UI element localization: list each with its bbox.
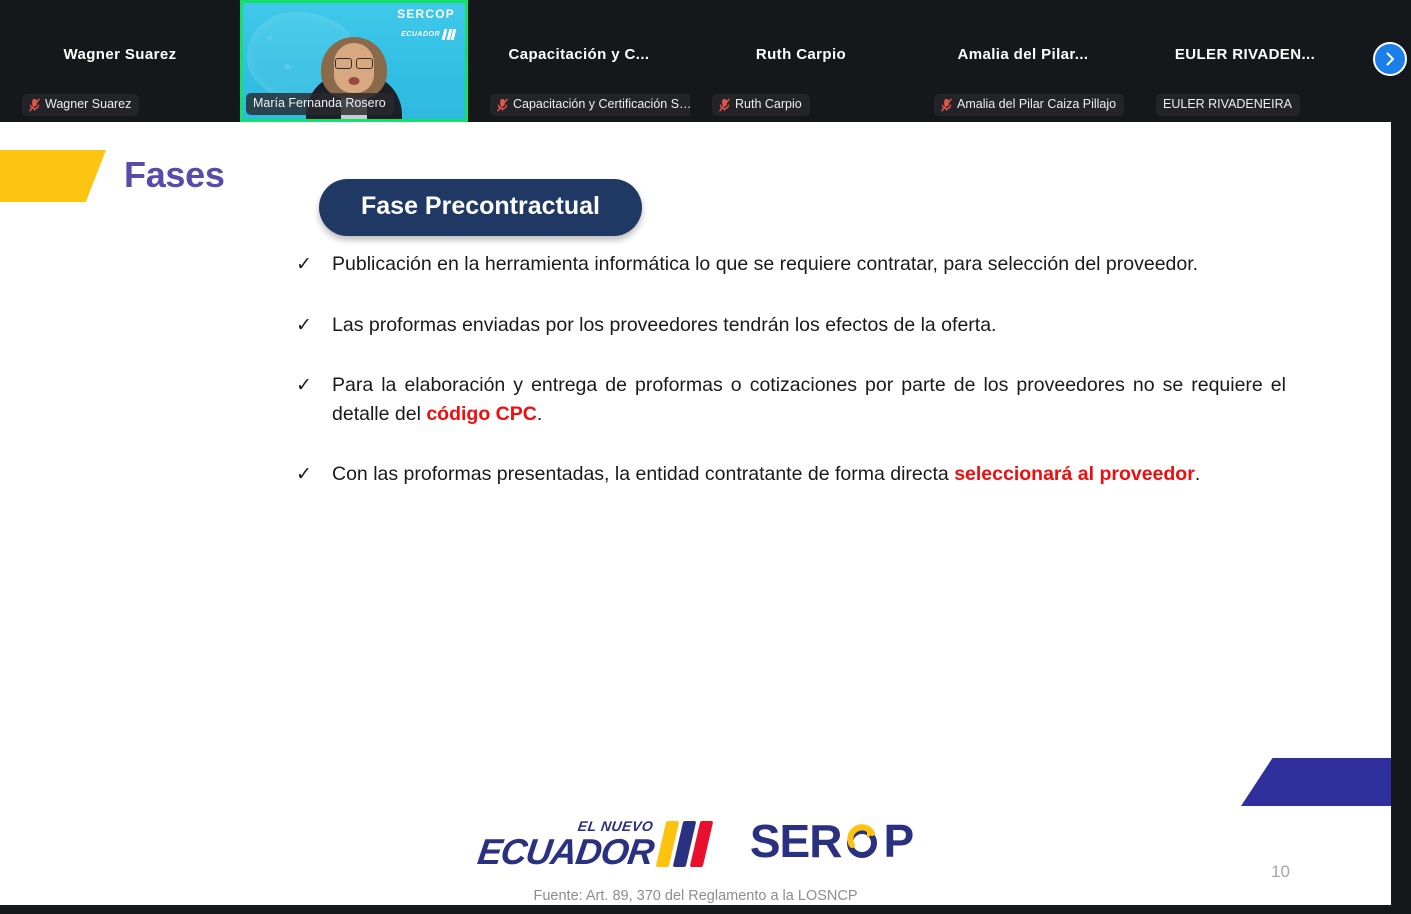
checkmark-icon: ✓ [296, 371, 312, 400]
name-badge: Capacitación y Certificación Serc... [490, 94, 701, 116]
sercop-logo: SER P [750, 812, 913, 870]
bullet-item: ✓Para la elaboración y entrega de profor… [296, 371, 1286, 428]
participant-tile-active-speaker[interactable]: SERCOP ECUADOR María Fernanda Rosero [240, 0, 468, 122]
checkmark-icon: ✓ [296, 311, 312, 340]
sercop-ring-icon [842, 821, 882, 861]
checkmark-icon: ✓ [296, 460, 312, 489]
sercop-logo-prefix: SER [750, 814, 842, 868]
bullet-text: Publicación en la herramienta informátic… [332, 250, 1286, 278]
blue-corner-shape [1241, 758, 1391, 806]
ecuador-watermark-text: ECUADOR [401, 31, 440, 38]
sercop-logo-suffix: P [883, 814, 913, 868]
bullet-text-segment: Publicación en la herramienta informátic… [332, 253, 1198, 275]
bullet-list: ✓Publicación en la herramienta informáti… [296, 250, 1286, 521]
name-badge-label: Amalia del Pilar Caiza Pillajo [957, 97, 1116, 112]
bullet-text: Para la elaboración y entrega de proform… [332, 371, 1286, 428]
name-badge-label: María Fernanda Rosero [253, 96, 386, 111]
participant-display-name: Wagner Suarez [0, 46, 240, 63]
presentation-slide: Fases Fase Precontractual ✓Publicación e… [0, 122, 1391, 905]
participant-display-name: Ruth Carpio [690, 46, 912, 63]
footer-logos: EL NUEVO ECUADOR SER P [0, 812, 1391, 870]
name-badge: EULER RIVADENEIRA [1156, 94, 1300, 116]
bullet-text-segment: Con las proformas presentadas, la entida… [332, 463, 954, 485]
participant-tile[interactable]: Capacitación y C...Capacitación y Certif… [468, 0, 690, 122]
checkmark-icon: ✓ [296, 250, 312, 279]
next-page-button[interactable] [1373, 42, 1407, 76]
participant-display-name: Capacitación y C... [468, 46, 690, 63]
name-badge: Ruth Carpio [712, 94, 810, 116]
bullet-text-segment: . [537, 403, 542, 425]
participant-tile[interactable]: EULER RIVADEN...EULER RIVADENEIRA [1134, 0, 1356, 122]
person-mouth [349, 77, 360, 85]
participant-tile[interactable]: Ruth CarpioRuth Carpio [690, 0, 912, 122]
name-badge-label: Ruth Carpio [735, 97, 802, 112]
participant-tile[interactable]: Wagner SuarezWagner Suarez [0, 0, 240, 122]
bottom-gutter [0, 905, 1411, 914]
right-gutter [1391, 122, 1411, 914]
bullet-text-segment: . [1195, 463, 1200, 485]
name-badge-label: Wagner Suarez [45, 97, 131, 112]
participant-display-name: Amalia del Pilar... [912, 46, 1134, 63]
bullet-text-segment: Las proformas enviadas por los proveedor… [332, 314, 996, 336]
participant-filmstrip: Wagner SuarezWagner SuarezCapacitación y… [0, 0, 1411, 122]
name-badge: Amalia del Pilar Caiza Pillajo [934, 94, 1124, 116]
mic-muted-icon [497, 98, 508, 112]
screen-root: Wagner SuarezWagner SuarezCapacitación y… [0, 0, 1411, 914]
participant-tile[interactable]: Amalia del Pilar...Amalia del Pilar Caiz… [912, 0, 1134, 122]
ecuador-logo-words: EL NUEVO ECUADOR [478, 819, 653, 870]
highlighted-term: seleccionará al proveedor [954, 463, 1195, 485]
bullet-item: ✓Publicación en la herramienta informáti… [296, 250, 1286, 279]
ecuador-flag-bars [656, 821, 714, 867]
ecuador-logo-name: ECUADOR [475, 834, 655, 870]
bullet-text: Con las proformas presentadas, la entida… [332, 460, 1286, 488]
glasses-icon [335, 58, 373, 67]
bullet-item: ✓Las proformas enviadas por los proveedo… [296, 311, 1286, 340]
name-badge: Wagner Suarez [22, 94, 139, 116]
sercop-watermark: SERCOP [397, 7, 455, 21]
mic-muted-icon [941, 98, 952, 112]
highlighted-term: código CPC [426, 403, 537, 425]
participant-display-name: EULER RIVADEN... [1134, 46, 1356, 63]
source-note: Fuente: Art. 89, 370 del Reglamento a la… [0, 888, 1391, 904]
name-badge-label: Capacitación y Certificación Serc... [513, 97, 693, 112]
mic-muted-icon [719, 98, 730, 112]
yellow-accent-shape [0, 150, 106, 202]
page-title: Fases [124, 154, 225, 196]
bullet-item: ✓Con las proformas presentadas, la entid… [296, 460, 1286, 489]
ecuador-watermark-bars [442, 29, 457, 40]
name-badge-label: EULER RIVADENEIRA [1163, 97, 1292, 112]
bullet-text: Las proformas enviadas por los proveedor… [332, 311, 1286, 339]
mic-muted-icon [29, 98, 40, 112]
phase-pill-badge: Fase Precontractual [319, 179, 642, 236]
ecuador-watermark: ECUADOR [401, 29, 455, 40]
ecuador-logo: EL NUEVO ECUADOR [478, 812, 708, 870]
name-badge: María Fernanda Rosero [246, 93, 394, 115]
